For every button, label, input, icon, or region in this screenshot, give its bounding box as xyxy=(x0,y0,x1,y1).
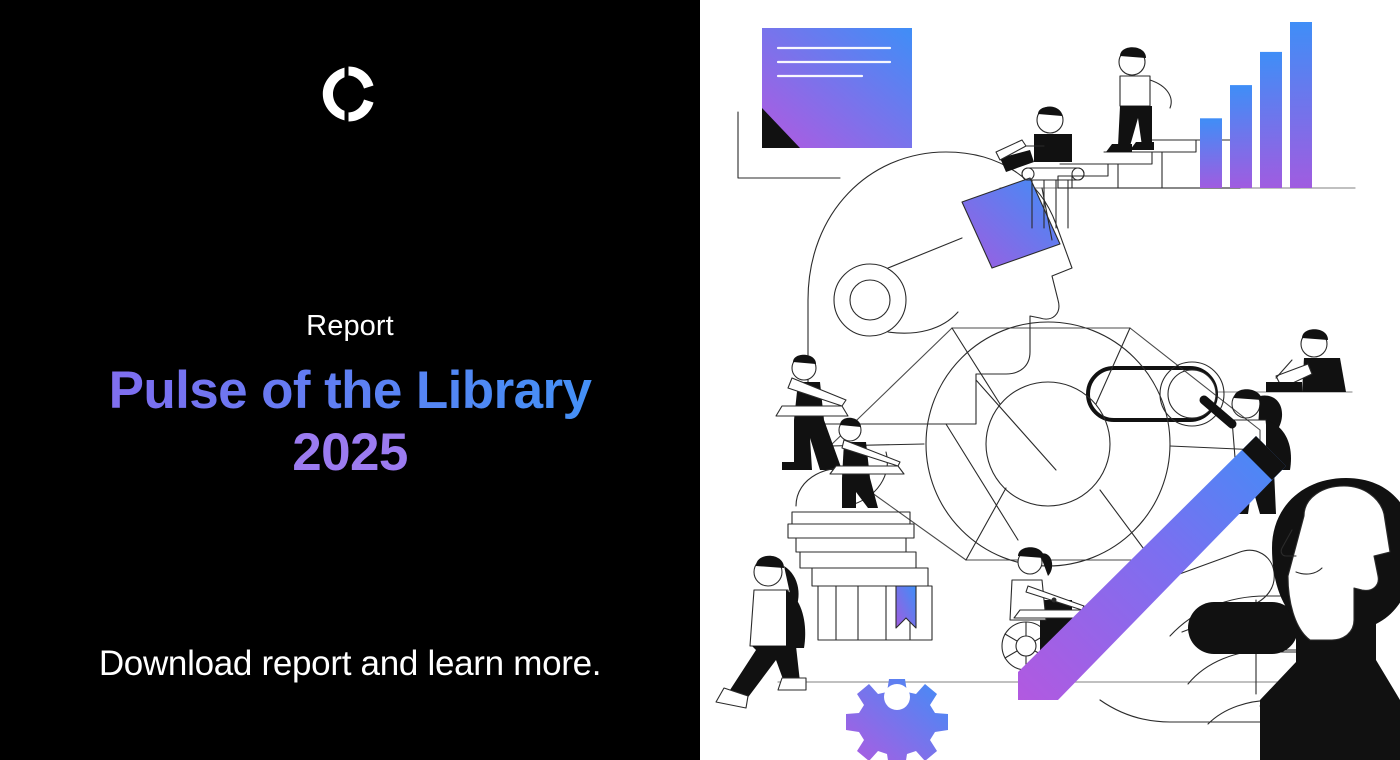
download-cta[interactable]: Download report and learn more. xyxy=(0,644,700,684)
report-eyebrow: Report xyxy=(40,312,660,341)
bar-chart xyxy=(1200,22,1312,188)
library-illustration xyxy=(700,0,1400,760)
oclc-logo-icon xyxy=(318,62,382,126)
gear-icon xyxy=(846,679,948,760)
hero-headline: Report Pulse of the Library 2025 xyxy=(0,312,700,484)
person-climbing-stairs xyxy=(1106,47,1171,152)
person-with-laptop-left xyxy=(776,355,848,470)
vr-headset xyxy=(962,178,1060,268)
person-on-column xyxy=(996,107,1072,172)
hero-panel: Report Pulse of the Library 2025 Downloa… xyxy=(0,0,700,760)
person-seated-reading xyxy=(1266,329,1346,392)
illustration-panel xyxy=(700,0,1400,760)
page-title: Pulse of the Library xyxy=(40,360,660,422)
person-on-books xyxy=(830,418,904,508)
page-title-year: 2025 xyxy=(40,422,660,484)
person-walking xyxy=(716,556,806,708)
toggle-switch xyxy=(1088,362,1224,426)
stylus-pencil xyxy=(1018,436,1286,700)
brand-logo[interactable] xyxy=(0,62,700,126)
document-card xyxy=(738,28,912,178)
